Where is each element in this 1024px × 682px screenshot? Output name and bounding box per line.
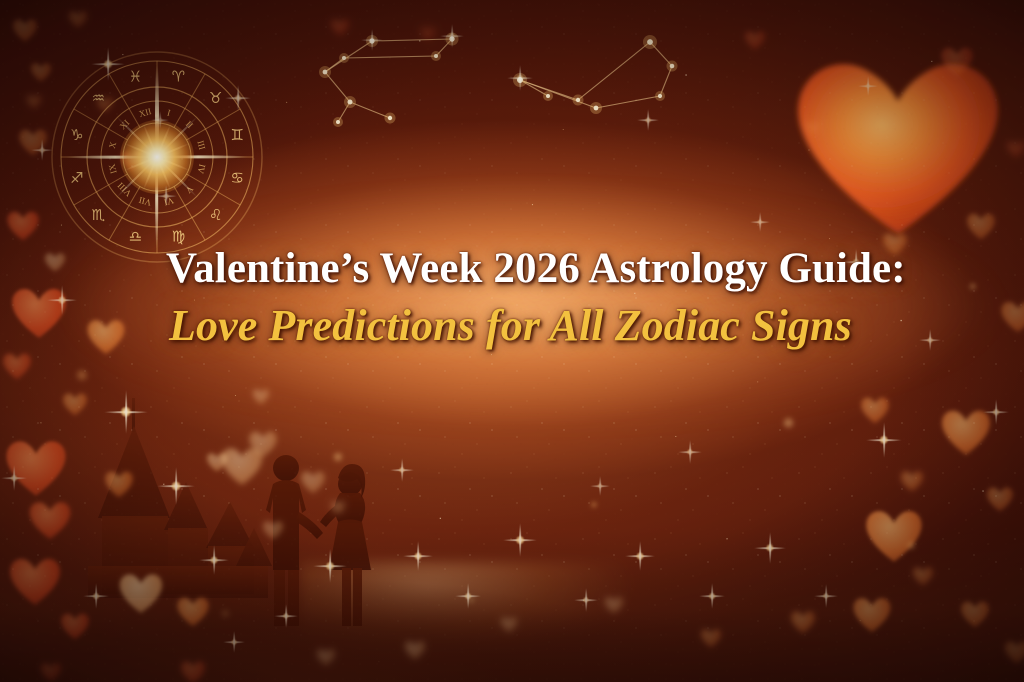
bokeh-heart [330,18,350,36]
zodiac-sign-cancer: ♋ [230,169,243,187]
bokeh-heart [330,500,346,515]
bokeh-heart [940,408,992,456]
zodiac-sign-leo: ♌ [209,206,222,224]
sparkle-star [983,399,1009,425]
bokeh-heart [60,612,90,640]
zodiac-numeral-III: III [195,139,207,150]
zodiac-sign-gemini: ♊ [230,126,243,144]
zodiac-numeral-XI: XI [118,118,132,132]
bokeh-heart [18,128,48,156]
castle-silhouette [58,390,318,630]
sparkle-star [157,467,195,505]
sparkle-star [455,583,481,609]
bokeh-heart [744,30,766,50]
bokeh-heart [900,470,924,492]
bokeh-heart [852,596,892,633]
zodiac-numeral-I: I [166,107,171,117]
bokeh-heart [960,600,990,628]
zodiac-sign-taurus: ♉ [209,89,222,107]
sparkle-star [313,549,347,583]
zodiac-numeral-XII: XII [138,106,153,119]
bokeh-heart [860,396,890,424]
zodiac-numeral-VI: VI [163,195,175,207]
landscape-scene [0,382,1024,682]
bokeh-heart [104,470,134,498]
bokeh-heart [62,392,88,416]
zodiac-sign-sagittarius: ♐ [70,169,83,187]
bokeh-heart [6,210,40,241]
sparkle-star [574,588,598,612]
bokeh-heart [40,662,62,682]
bokeh-heart [220,446,264,486]
bokeh-heart [262,520,284,540]
sparkle-star [104,390,148,434]
zodiac-spokes [61,61,253,253]
sparkle-star [390,458,414,482]
bokeh-heart [986,486,1014,512]
bokeh-heart [420,26,436,41]
zodiac-numeral-V: V [183,184,195,196]
zodiac-numeral-IX: IX [106,163,118,175]
bokeh-heart [500,616,518,633]
sparkle-star [440,24,464,48]
bokeh-heart [206,452,228,472]
sparkle-star [223,631,245,653]
sparkle-star [866,422,902,458]
bokeh-heart [300,470,326,494]
couple-silhouette [228,440,428,630]
zodiac-sign-libra: ♎ [129,228,142,246]
river-glow [300,562,720,682]
zodiac-sign-virgo: ♍ [172,228,185,246]
zodiac-sign-scorpio: ♏ [92,206,106,224]
sparkle-star [625,541,655,571]
bokeh-heart [180,660,206,682]
bokeh-heart [8,556,62,606]
bokeh-heart [864,508,924,563]
zodiac-numeral-VIII: VIII [116,180,134,198]
sparkle-star [507,65,533,91]
bokeh-heart [2,352,32,380]
zodiac-wheel: ♈♉♊♋♌♍♎♏♐♑♒♓ IIIIIIIVVVIVIIVIIIIXXXIXII [48,48,266,266]
zodiac-sign-pisces: ♓ [129,67,142,85]
zodiac-sign-capricorn: ♑ [70,126,83,144]
bokeh-heart [4,438,68,497]
hero-heart-icon [790,52,1006,242]
sparkle-star [637,109,659,131]
sparkle-star [274,604,298,628]
zodiac-sign-aries: ♈ [172,67,185,85]
bokeh-heart [1006,140,1024,158]
sparkle-star [361,29,383,51]
bokeh-heart [604,596,624,614]
bokeh-heart [1004,640,1024,664]
bokeh-heart [700,628,722,648]
sparkle-star [699,583,725,609]
sparkle-star [754,532,786,564]
page-title: Valentine’s Week 2026 Astrology Guide: [166,246,984,292]
bokeh-heart [68,10,88,28]
bokeh-heart [26,94,42,109]
bokeh-heart [252,388,270,405]
sparkle-star [814,584,838,608]
page-subtitle: Love Predictions for All Zodiac Signs [169,303,984,350]
bokeh-heart [316,648,336,666]
sparkle-star [403,541,433,571]
bokeh-heart [404,640,426,660]
bokeh-heart [912,566,934,586]
sparkle-star [590,476,610,496]
sparkle-star [678,440,702,464]
bokeh-heart [176,596,210,627]
title-block: Valentine’s Week 2026 Astrology Guide: L… [0,246,1024,349]
sparkle-star [1,465,27,491]
sparkle-star [503,523,537,557]
zodiac-numeral-X: X [107,140,118,149]
bokeh-heart [28,500,72,540]
sparkle-star [750,212,770,232]
valentines-astrology-banner: ♈♉♊♋♌♍♎♏♐♑♒♓ IIIIIIIVVVIVIIVIIIIXXXIXII [0,0,1024,682]
bokeh-heart [248,430,278,458]
sparkle-star [83,583,109,609]
zodiac-numeral-II: II [184,119,195,130]
zodiac-sign-aquarius: ♒ [92,89,105,107]
bokeh-heart [12,18,38,42]
sparkle-star [199,545,229,575]
zodiac-numeral-IV: IV [195,163,207,175]
zodiac-numeral-VII: VII [138,195,153,208]
bokeh-heart [790,610,816,634]
ground-silhouette [0,532,1024,682]
bokeh-heart [118,572,164,614]
